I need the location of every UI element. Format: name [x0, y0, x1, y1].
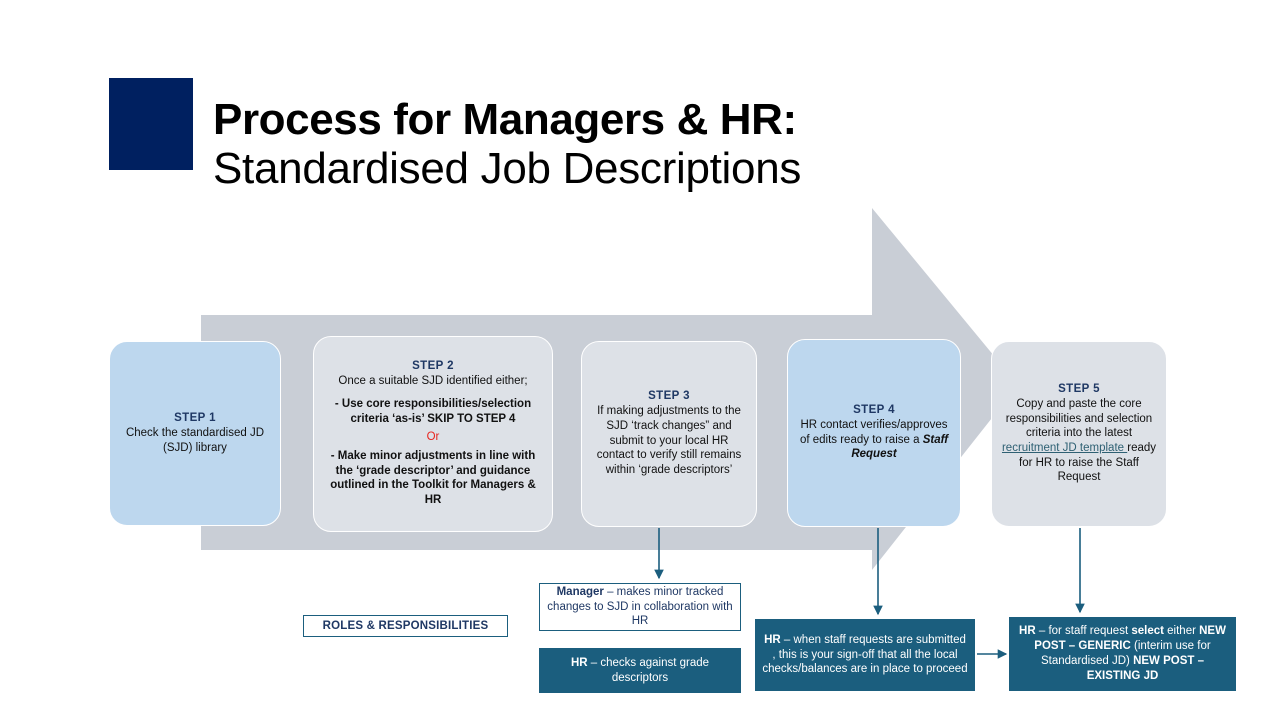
step-4-title: STEP 4 — [796, 404, 952, 416]
role-hr-select-text: HR – for staff request select either NEW… — [1015, 624, 1230, 684]
step-5-body: Copy and paste the core responsibilities… — [1000, 397, 1158, 485]
step-card-5[interactable]: STEP 5 Copy and paste the core responsib… — [991, 341, 1167, 527]
step-3-title: STEP 3 — [590, 390, 748, 402]
role-hr-grade-name: HR — [571, 657, 588, 669]
step-card-2[interactable]: STEP 2 Once a suitable SJD identified ei… — [313, 336, 553, 532]
role-hr-grade-text: HR – checks against grade descriptors — [543, 656, 737, 686]
step-1-body-line-1: Check the standardised JD — [118, 426, 272, 441]
role-manager-name: Manager — [557, 586, 604, 598]
title-line-primary: Process for Managers & HR: — [213, 96, 1013, 144]
page-title: Process for Managers & HR: Standardised … — [213, 96, 1013, 194]
step-card-3[interactable]: STEP 3 If making adjustments to the SJD … — [581, 341, 757, 527]
role-hr-signoff-text: HR – when staff requests are submitted ,… — [761, 633, 969, 678]
step-5-title: STEP 5 — [1000, 383, 1158, 395]
step-2-option-a: - Use core responsibilities/selection cr… — [322, 397, 544, 426]
role-hr-signoff-detail: – when staff requests are submitted , th… — [762, 634, 967, 676]
role-box-manager: Manager – makes minor tracked changes to… — [539, 583, 741, 631]
step-2-intro: Once a suitable SJD identified either; — [322, 374, 544, 389]
step-2-title: STEP 2 — [322, 360, 544, 372]
step-2-gap — [322, 389, 544, 397]
roles-responsibilities-legend: ROLES & RESPONSIBILITIES — [303, 615, 508, 637]
step-card-1[interactable]: STEP 1 Check the standardised JD (SJD) l… — [109, 341, 281, 526]
role-box-hr-select-post-type: HR – for staff request select either NEW… — [1009, 617, 1236, 691]
step-5-body-text-1: Copy and paste the core responsibilities… — [1006, 398, 1152, 439]
role-box-hr-signoff: HR – when staff requests are submitted ,… — [755, 619, 975, 691]
step-1-body: Check the standardised JD (SJD) library — [118, 426, 272, 455]
role-hr-select-emphasis-select: select — [1131, 625, 1164, 637]
role-box-hr-grade-descriptors: HR – checks against grade descriptors — [539, 648, 741, 693]
recruitment-jd-template-link[interactable]: recruitment JD template — [1002, 442, 1127, 454]
step-1-body-line-2: (SJD) library — [118, 441, 272, 456]
role-manager-text: Manager – makes minor tracked changes to… — [544, 585, 736, 630]
step-2-body: Once a suitable SJD identified either; -… — [322, 374, 544, 508]
role-hr-select-detail-2: either — [1164, 625, 1196, 637]
step-card-4[interactable]: STEP 4 HR contact verifies/approves of e… — [787, 339, 961, 527]
step-4-body: HR contact verifies/approves of edits re… — [796, 418, 952, 462]
title-accent-square — [109, 78, 193, 170]
role-hr-signoff-name: HR — [764, 634, 781, 646]
step-2-or-divider: Or — [322, 430, 544, 445]
role-hr-grade-detail: – checks against grade descriptors — [588, 657, 709, 684]
step-1-title: STEP 1 — [118, 412, 272, 424]
step-2-option-b: - Make minor adjustments in line with th… — [322, 449, 544, 508]
roles-legend-label: ROLES & RESPONSIBILITIES — [304, 619, 507, 634]
title-line-secondary: Standardised Job Descriptions — [213, 144, 1013, 193]
role-hr-select-name: HR — [1019, 625, 1036, 637]
step-3-body: If making adjustments to the SJD ‘track … — [590, 404, 748, 478]
role-hr-select-detail-1: – for staff request — [1036, 625, 1132, 637]
